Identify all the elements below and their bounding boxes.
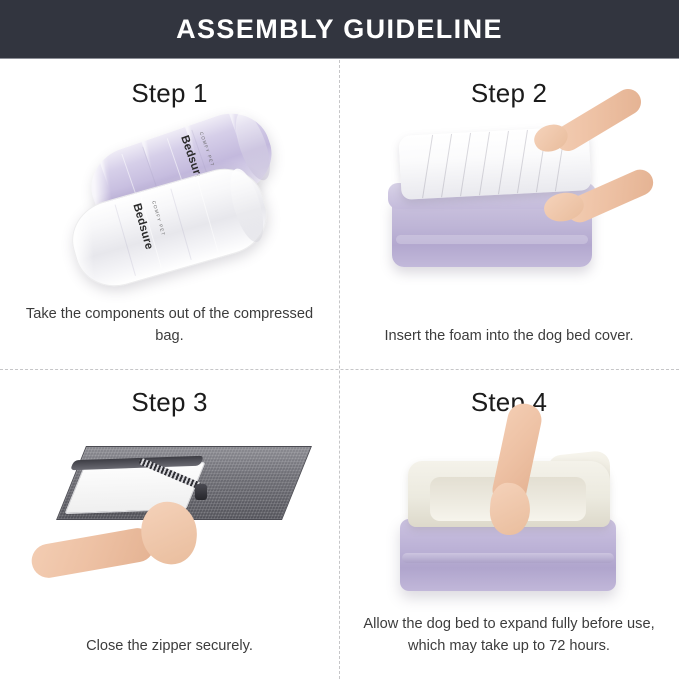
step-illustration-3 [0,429,339,601]
insert-foam-illustration [384,121,634,291]
step-title-1: Step 1 [0,80,339,106]
expanded-bed-illustration [396,427,622,603]
step-cell-4: Step 4 Allow the dog bed to expand fully… [339,369,679,679]
brand-tagline-lavender: COMFY PET [198,131,215,167]
brand-tagline-white: COMFY PET [151,200,166,237]
step-caption-3: Close the zipper securely. [24,635,315,657]
step-cell-2: Step 2 [339,60,679,369]
step-cell-1: Step 1 Bedsure COMFY PET [0,60,339,369]
page-title: ASSEMBLY GUIDELINE [176,16,503,43]
compressed-rolls-illustration: Bedsure COMFY PET Bedsure COMFY PET [55,118,285,293]
step-illustration-4 [339,429,679,601]
close-zipper-illustration [45,440,295,590]
step-title-3: Step 3 [0,389,339,415]
header-bar: ASSEMBLY GUIDELINE [0,0,679,59]
assembly-guideline-page: ASSEMBLY GUIDELINE Step 1 Bedsure [0,0,679,679]
base-seam-band [402,553,614,563]
step-caption-4: Allow the dog bed to expand fully before… [363,613,655,657]
step-caption-1: Take the components out of the compresse… [24,303,315,347]
step-illustration-1: Bedsure COMFY PET Bedsure COMFY PET [0,120,339,291]
step-cell-3: Step 3 Close the zipper securel [0,369,339,679]
zipper-pull [195,484,207,500]
step-caption-2: Insert the foam into the dog bed cover. [363,325,655,347]
step-illustration-2 [339,120,679,291]
brand-label-white: Bedsure [130,202,155,251]
horizontal-divider [0,369,679,370]
